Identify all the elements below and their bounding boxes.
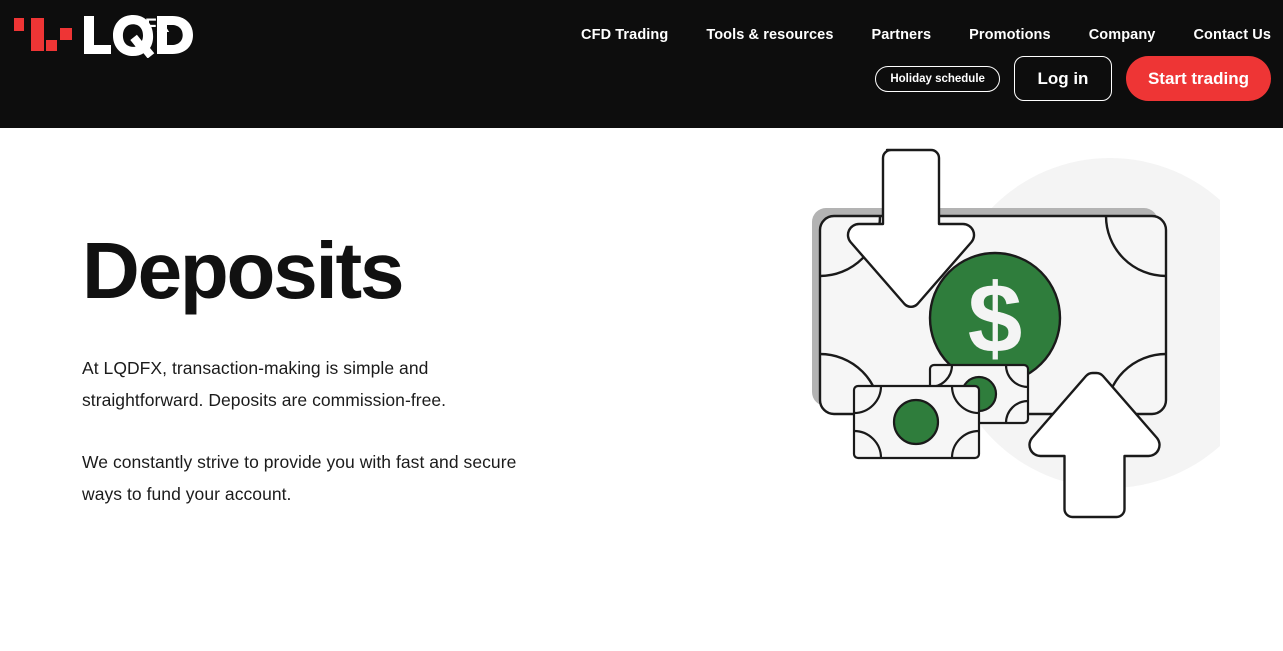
header-actions: Holiday schedule Log in Start trading xyxy=(875,56,1271,101)
deposits-illustration: $ xyxy=(780,138,1220,538)
hero-copy: Deposits At LQDFX, transaction-making is… xyxy=(82,228,552,510)
site-header: FX ™ CFD Trading Tools & resources Partn… xyxy=(0,0,1283,128)
lqdfx-logo[interactable]: FX ™ xyxy=(14,12,194,58)
hero-paragraph-2: We constantly strive to provide you with… xyxy=(82,446,552,510)
nav-contact-us[interactable]: Contact Us xyxy=(1193,26,1271,44)
nav-promotions[interactable]: Promotions xyxy=(969,26,1051,44)
page-title: Deposits xyxy=(82,228,552,314)
dollar-coin: $ xyxy=(930,253,1060,383)
nav-cfd-trading[interactable]: CFD Trading xyxy=(581,26,668,44)
start-trading-button[interactable]: Start trading xyxy=(1126,56,1271,101)
nav-partners[interactable]: Partners xyxy=(871,26,931,44)
holiday-schedule-button[interactable]: Holiday schedule xyxy=(875,66,1000,92)
page-main: Deposits At LQDFX, transaction-making is… xyxy=(0,128,1283,651)
primary-navigation: CFD Trading Tools & resources Partners P… xyxy=(581,26,1271,44)
nav-company[interactable]: Company xyxy=(1089,26,1156,44)
login-button[interactable]: Log in xyxy=(1014,56,1112,101)
logo-mark-icon xyxy=(14,18,72,51)
small-coin-a xyxy=(894,400,938,444)
dollar-symbol: $ xyxy=(968,263,1023,373)
hero-paragraph-1: At LQDFX, transaction-making is simple a… xyxy=(82,352,552,416)
small-banknote-a xyxy=(854,386,979,458)
svg-text:FX: FX xyxy=(145,16,170,37)
svg-text:™: ™ xyxy=(177,18,184,25)
nav-tools-resources[interactable]: Tools & resources xyxy=(706,26,833,44)
